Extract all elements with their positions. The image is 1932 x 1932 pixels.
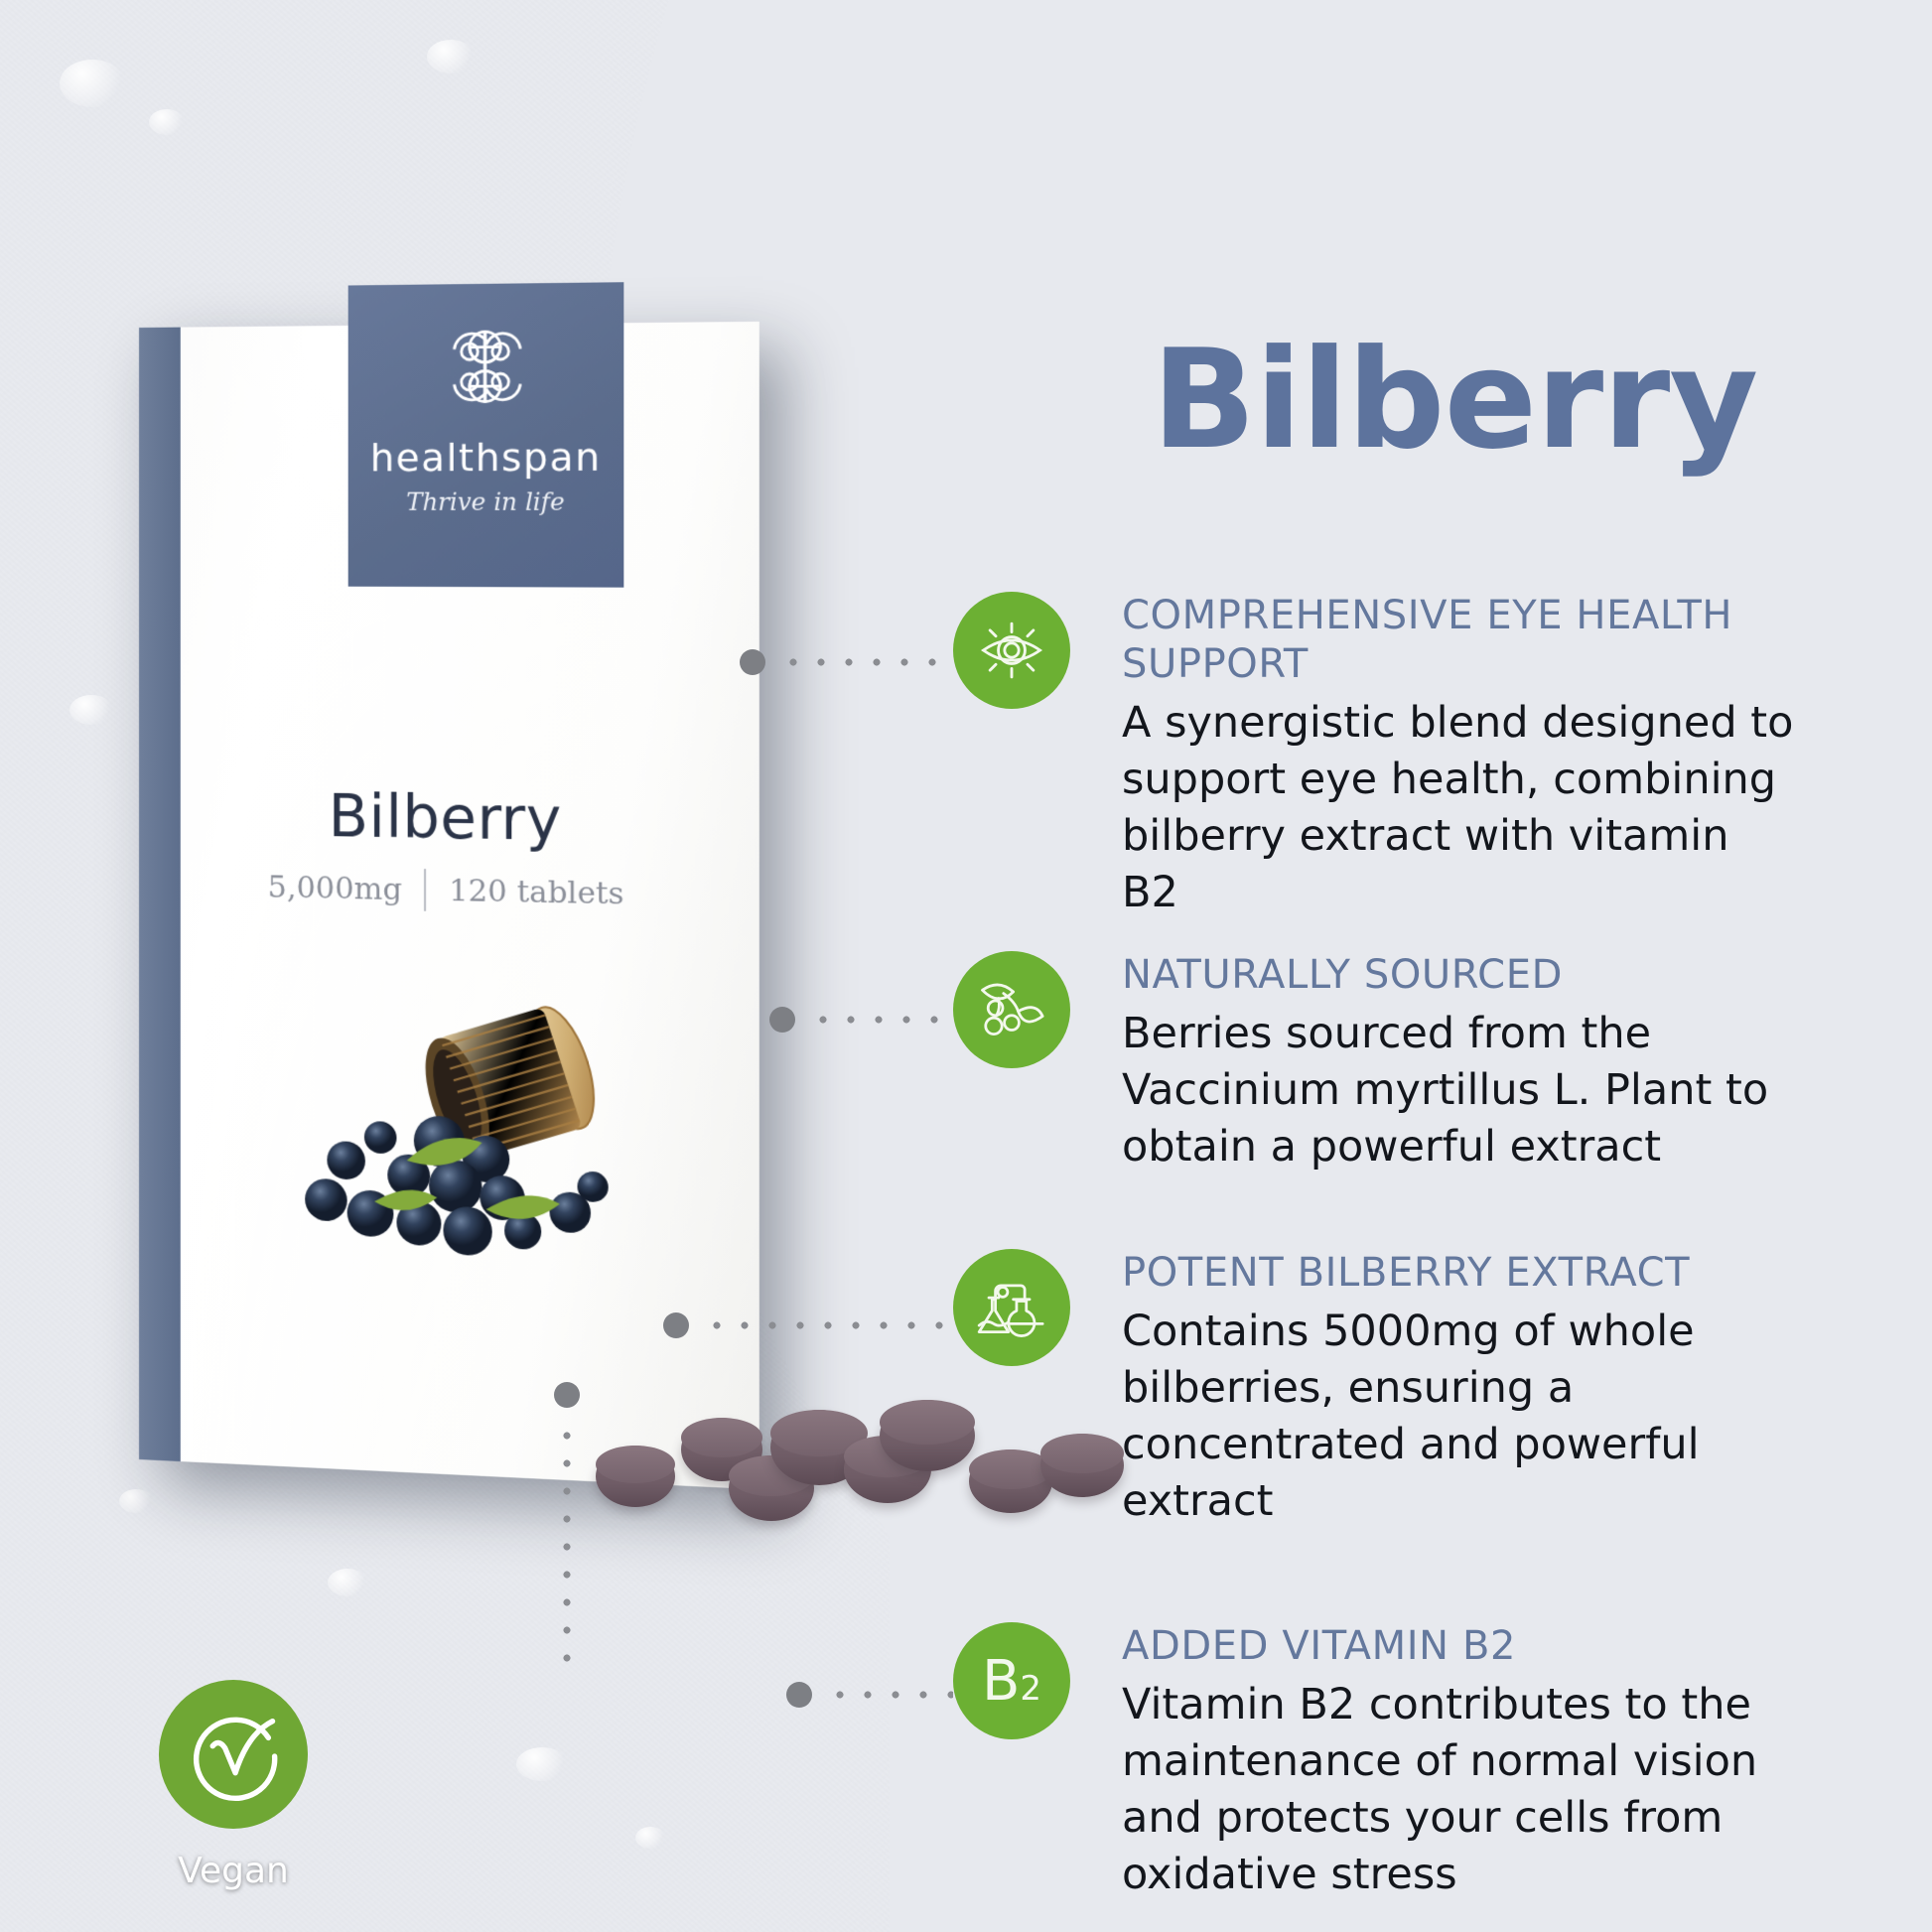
eye-icon xyxy=(953,592,1070,709)
feature-heading: ADDED VITAMIN B2 xyxy=(1122,1622,1797,1671)
feature-text-block: NATURALLY SOURCED Berries sourced from t… xyxy=(1122,951,1797,1175)
connector-dots xyxy=(779,657,953,667)
feature-body: A synergistic blend designed to support … xyxy=(1122,695,1797,922)
spec-divider xyxy=(424,869,426,911)
brand-header-panel: healthspan Thrive in life xyxy=(348,282,624,587)
connector-line-flasks xyxy=(663,1320,953,1330)
feature-heading: NATURALLY SOURCED xyxy=(1122,951,1797,1000)
vegan-label: Vegan xyxy=(139,1851,328,1891)
connector-dot xyxy=(663,1312,689,1338)
feature-heading: POTENT BILBERRY EXTRACT xyxy=(1122,1249,1797,1298)
connector-dot xyxy=(554,1382,580,1408)
feature-naturally-sourced: NATURALLY SOURCED Berries sourced from t… xyxy=(953,951,1797,1175)
connector-line-vertical xyxy=(562,1382,572,1680)
connector-dots xyxy=(826,1690,953,1700)
brand-name: healthspan xyxy=(370,435,602,480)
feature-text-block: POTENT BILBERRY EXTRACT Contains 5000mg … xyxy=(1122,1249,1797,1531)
berries-leaf-icon xyxy=(953,951,1070,1068)
feature-heading: COMPREHENSIVE EYE HEALTH SUPPORT xyxy=(1122,592,1797,689)
vegan-badge: Vegan xyxy=(139,1680,328,1891)
brand-tagline: Thrive in life xyxy=(406,487,565,516)
vegan-check-icon xyxy=(159,1680,308,1829)
page-title: Bilberry xyxy=(1152,320,1757,480)
box-product-spec: 5,000mg 120 tablets xyxy=(139,864,759,917)
b2-subscript: 2 xyxy=(1020,1669,1041,1709)
feature-eye-health: COMPREHENSIVE EYE HEALTH SUPPORT A syner… xyxy=(953,592,1797,921)
box-product-title: Bilberry xyxy=(139,779,759,858)
healthspan-knot-logo-icon xyxy=(430,312,540,422)
vitamin-b2-icon: B2 xyxy=(953,1622,1070,1739)
connector-dots xyxy=(809,1015,953,1025)
box-count: 120 tablets xyxy=(449,873,623,911)
connector-line-berries xyxy=(769,1015,953,1025)
feature-text-block: ADDED VITAMIN B2 Vitamin B2 contributes … xyxy=(1122,1622,1797,1904)
feature-potent-extract: POTENT BILBERRY EXTRACT Contains 5000mg … xyxy=(953,1249,1797,1531)
feature-body: Berries sourced from the Vaccinium myrti… xyxy=(1122,1006,1797,1176)
feature-added-vitamin-b2: B2 ADDED VITAMIN B2 Vitamin B2 contribut… xyxy=(953,1622,1797,1904)
connector-line-eye xyxy=(740,657,953,667)
b2-label: B2 xyxy=(982,1649,1041,1714)
connector-dots xyxy=(703,1320,953,1330)
connector-dot xyxy=(786,1682,812,1708)
infographic-canvas: healthspan Thrive in life Bilberry 5,000… xyxy=(0,0,1932,1932)
feature-body: Vitamin B2 contributes to the maintenanc… xyxy=(1122,1677,1797,1904)
lab-flasks-icon xyxy=(953,1249,1070,1366)
feature-body: Contains 5000mg of whole bilberries, ens… xyxy=(1122,1304,1797,1531)
connector-dot xyxy=(769,1007,795,1033)
connector-line-b2 xyxy=(786,1690,953,1700)
connector-dot xyxy=(740,649,765,675)
blueberry-basket-icon xyxy=(288,966,623,1269)
feature-text-block: COMPREHENSIVE EYE HEALTH SUPPORT A syner… xyxy=(1122,592,1797,921)
product-box: healthspan Thrive in life Bilberry 5,000… xyxy=(139,322,759,1489)
box-dose: 5,000mg xyxy=(268,870,402,907)
b2-letter: B xyxy=(982,1649,1020,1714)
connector-dots xyxy=(562,1422,572,1680)
